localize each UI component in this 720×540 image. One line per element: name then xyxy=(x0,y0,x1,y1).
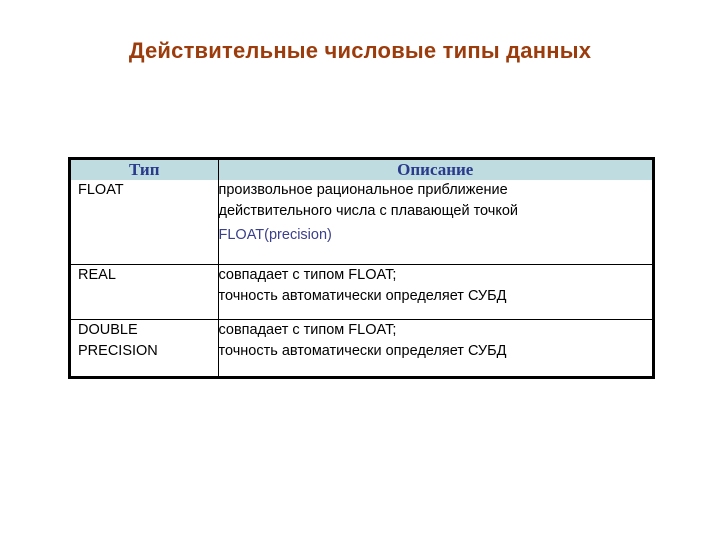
column-header-description: Описание xyxy=(218,160,652,180)
table-header: Тип Описание xyxy=(71,160,652,180)
types-table: Тип Описание FLOAT произвольное рационал… xyxy=(71,160,652,376)
description-line-1: совпадает с типом FLOAT; xyxy=(219,320,653,341)
cell-description-real: совпадает с типом FLOAT; точность автома… xyxy=(218,265,652,320)
cell-description-float: произвольное рациональное приближение де… xyxy=(218,180,652,265)
cell-type-double-precision: DOUBLE PRECISION xyxy=(71,320,218,377)
table-row: REAL совпадает с типом FLOAT; точность а… xyxy=(71,265,652,320)
cell-type-float: FLOAT xyxy=(71,180,218,265)
slide-canvas: Действительные числовые типы данных Тип … xyxy=(0,0,720,540)
table-body: FLOAT произвольное рациональное приближе… xyxy=(71,180,652,376)
table-row: DOUBLE PRECISION совпадает с типом FLOAT… xyxy=(71,320,652,377)
description-line-2: точность автоматически определяет СУБД xyxy=(219,286,653,307)
table-header-row: Тип Описание xyxy=(71,160,652,180)
page-title: Действительные числовые типы данных xyxy=(0,38,720,64)
description-line-2: точность автоматически определяет СУБД xyxy=(219,341,653,362)
cell-description-double-precision: совпадает с типом FLOAT; точность автома… xyxy=(218,320,652,377)
data-types-table: Тип Описание FLOAT произвольное рационал… xyxy=(68,157,655,379)
cell-type-real: REAL xyxy=(71,265,218,320)
table-row: FLOAT произвольное рациональное приближе… xyxy=(71,180,652,265)
description-line-1: совпадает с типом FLOAT; xyxy=(219,265,653,286)
description-line-2: действительного числа с плавающей точкой xyxy=(219,201,653,222)
column-header-type: Тип xyxy=(71,160,218,180)
description-line-1: произвольное рациональное приближение xyxy=(219,180,653,201)
description-code-accent: FLOAT(precision) xyxy=(219,225,653,246)
